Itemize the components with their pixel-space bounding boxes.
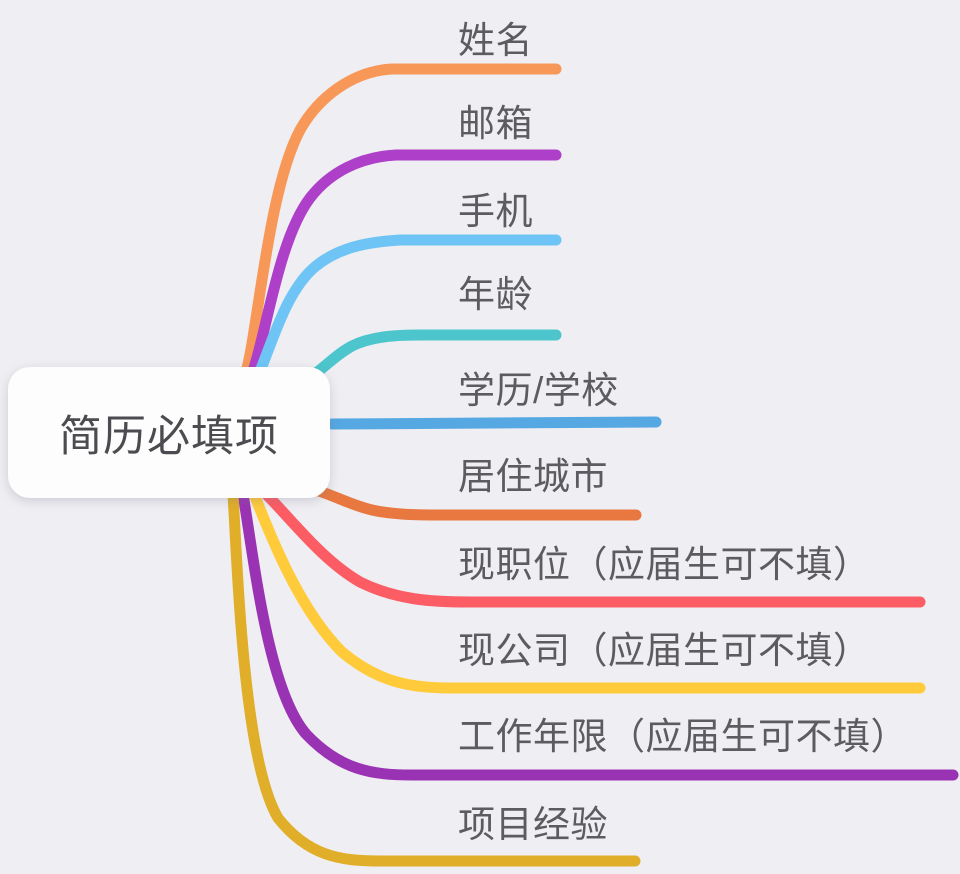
branch-label[interactable]: 居住城市: [458, 458, 608, 495]
branch-label[interactable]: 现公司（应届生可不填）: [458, 632, 871, 669]
branch-connector: [252, 155, 556, 374]
branch-label[interactable]: 手机: [458, 193, 533, 230]
branch-label[interactable]: 年龄: [458, 276, 533, 313]
branch-label[interactable]: 项目经验: [458, 806, 608, 843]
center-node[interactable]: 简历必填项: [8, 367, 330, 498]
branch-label[interactable]: 邮箱: [458, 105, 533, 142]
branch-connector: [332, 422, 656, 424]
branch-label[interactable]: 姓名: [458, 22, 533, 59]
branch-label[interactable]: 工作年限（应届生可不填）: [458, 718, 908, 755]
mindmap-canvas: 姓名邮箱手机年龄学历/学校居住城市现职位（应届生可不填）现公司（应届生可不填）工…: [0, 0, 960, 874]
center-node-label: 简历必填项: [59, 402, 279, 464]
branch-label[interactable]: 学历/学校: [458, 372, 619, 409]
branch-label[interactable]: 现职位（应届生可不填）: [458, 546, 871, 583]
